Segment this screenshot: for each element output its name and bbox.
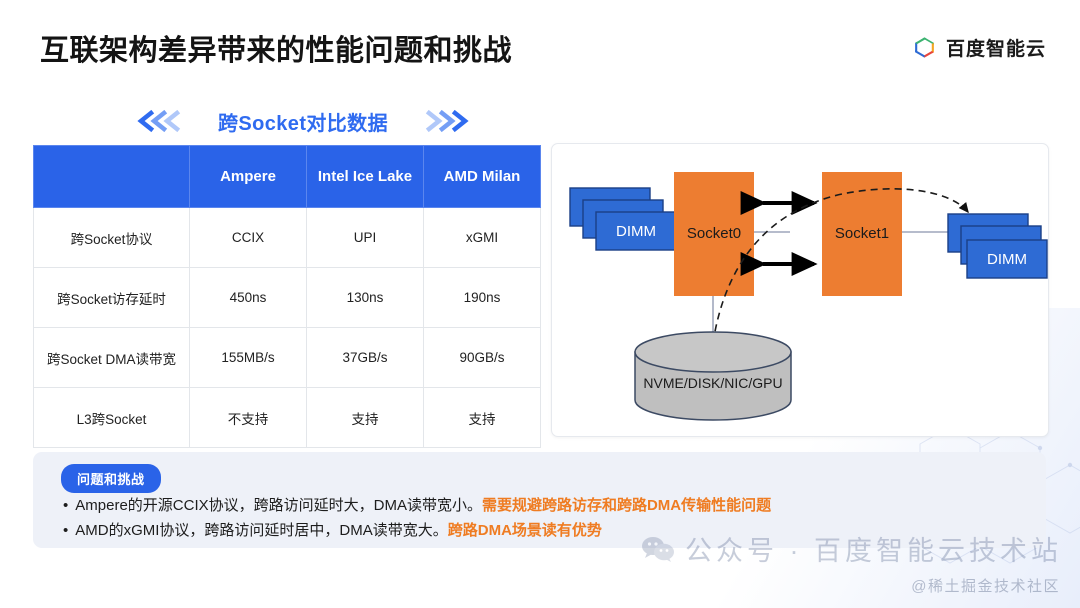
status-badge: 问题和挑战 (61, 464, 161, 493)
cell-value: UPI (307, 208, 424, 268)
architecture-diagram: DIMM Socket0 Socket1 DIMM (551, 143, 1049, 437)
cell-value: 155MB/s (190, 328, 307, 388)
table-header-cell-ampere: Ampere (190, 146, 307, 208)
list-item: • AMD的xGMI协议，跨路访问延时居中，DMA读带宽大。跨路DMA场景读有优… (63, 519, 1032, 542)
cell-value: 支持 (307, 388, 424, 448)
section-heading: 跨Socket对比数据 (133, 104, 473, 138)
list-item: • Ampere的开源CCIX协议，跨路访问延时大，DMA读带宽小。需要规避跨路… (63, 494, 1032, 517)
row-label: 跨Socket协议 (34, 208, 190, 268)
brand-name: 百度智能云 (946, 34, 1046, 61)
bullet-dot-icon: • (63, 494, 68, 517)
chevrons-right-icon (425, 109, 473, 133)
watermark-subtext: @稀土掘金技术社区 (911, 575, 1060, 596)
page-title: 互联架构差异带来的性能问题和挑战 (40, 27, 512, 69)
cell-value: CCIX (190, 208, 307, 268)
slide-root: 互联架构差异带来的性能问题和挑战 百度智能云 跨Socket对比数据 (0, 0, 1080, 608)
row-label: 跨Socket访存延时 (34, 268, 190, 328)
bullet-list: • Ampere的开源CCIX协议，跨路访问延时大，DMA读带宽小。需要规避跨路… (63, 494, 1032, 545)
notes-panel: 问题和挑战 • Ampere的开源CCIX协议，跨路访问延时大，DMA读带宽小。… (33, 452, 1046, 548)
table-row: L3跨Socket 不支持 支持 支持 (34, 388, 541, 448)
cell-value: 130ns (307, 268, 424, 328)
bullet-text: Ampere的开源CCIX协议，跨路访问延时大，DMA读带宽小。 (75, 497, 482, 514)
svg-text:DIMM: DIMM (987, 251, 1027, 268)
row-label: 跨Socket DMA读带宽 (34, 328, 190, 388)
brand-logo: 百度智能云 (912, 34, 1046, 61)
table-header-cell-amd: AMD Milan (424, 146, 541, 208)
row-label: L3跨Socket (34, 388, 190, 448)
table-row: 跨Socket访存延时 450ns 130ns 190ns (34, 268, 541, 328)
bullet-dot-icon: • (63, 519, 68, 542)
svg-text:Socket0: Socket0 (687, 225, 741, 242)
table-header-cell-blank (34, 146, 190, 208)
bullet-highlight: 跨路DMA场景读有优势 (448, 522, 602, 539)
comparison-table: Ampere Intel Ice Lake AMD Milan 跨Socket协… (33, 145, 541, 448)
cell-value: 37GB/s (307, 328, 424, 388)
svg-text:Socket1: Socket1 (835, 225, 889, 242)
cell-value: 不支持 (190, 388, 307, 448)
svg-text:NVME/DISK/NIC/GPU: NVME/DISK/NIC/GPU (643, 375, 782, 391)
table-row: 跨Socket协议 CCIX UPI xGMI (34, 208, 541, 268)
storage-cylinder: NVME/DISK/NIC/GPU (635, 332, 791, 420)
socket-interconnect-arrows (763, 203, 814, 264)
cell-value: 450ns (190, 268, 307, 328)
table-header-cell-intel: Intel Ice Lake (307, 146, 424, 208)
bullet-text: AMD的xGMI协议，跨路访问延时居中，DMA读带宽大。 (75, 522, 448, 539)
table-header-row: Ampere Intel Ice Lake AMD Milan (34, 146, 541, 208)
cell-value: 90GB/s (424, 328, 541, 388)
svg-text:DIMM: DIMM (616, 223, 656, 240)
section-title: 跨Socket对比数据 (218, 107, 388, 136)
dimm-right-stack: DIMM (948, 214, 1047, 278)
dimm-left-stack: DIMM (570, 188, 676, 250)
cell-value: 190ns (424, 268, 541, 328)
table-row: 跨Socket DMA读带宽 155MB/s 37GB/s 90GB/s (34, 328, 541, 388)
baidu-cloud-logo-icon (912, 35, 937, 60)
chevrons-left-icon (133, 109, 181, 133)
socket0-block: Socket0 (674, 172, 754, 296)
cell-value: 支持 (424, 388, 541, 448)
cell-value: xGMI (424, 208, 541, 268)
bullet-highlight: 需要规避跨路访存和跨路DMA传输性能问题 (482, 497, 771, 514)
